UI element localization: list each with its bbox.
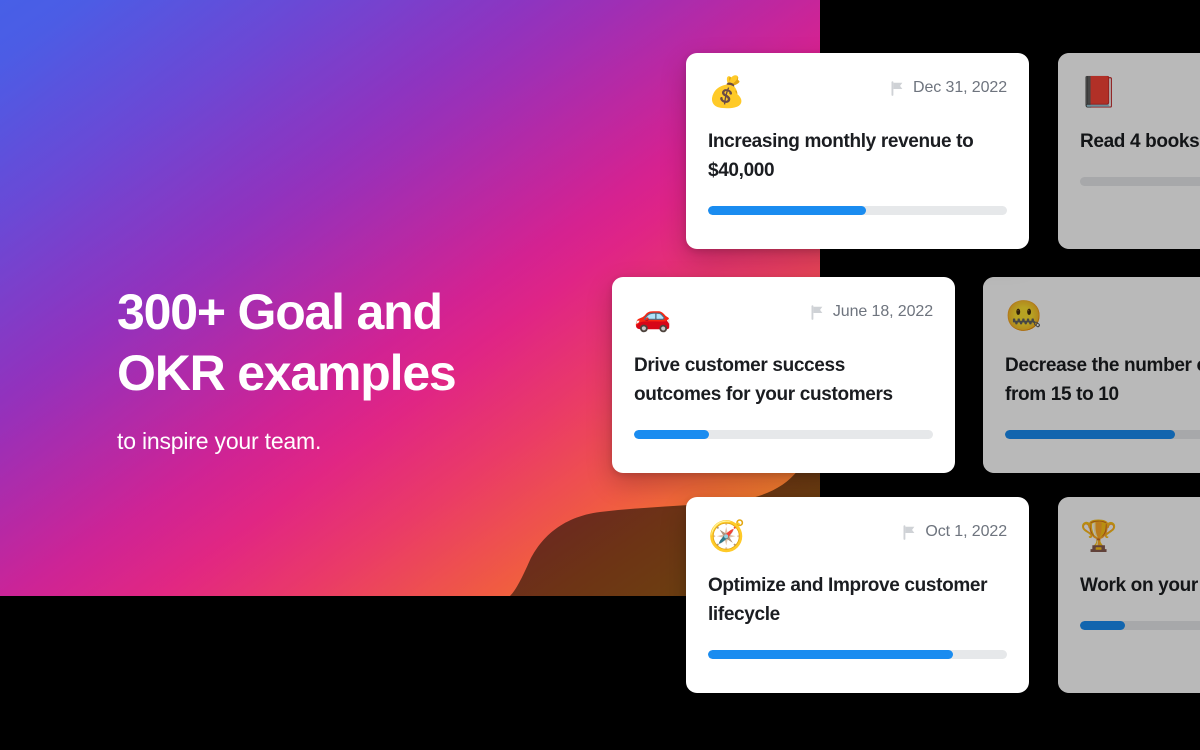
progress-bar bbox=[708, 650, 1007, 659]
money-bag-emoji: 💰 bbox=[708, 75, 745, 111]
progress-bar bbox=[708, 206, 1007, 215]
compass-emoji: 🧭 bbox=[708, 519, 745, 555]
card-title: Work on your skills by the end bbox=[1080, 571, 1200, 600]
card-title: Read 4 books bbox=[1080, 127, 1200, 156]
card-header: 📕 bbox=[1080, 75, 1200, 115]
goal-card-work-on-skills[interactable]: 🏆 Work on your skills by the end bbox=[1058, 497, 1200, 693]
zipper-mouth-face-emoji: 🤐 bbox=[1005, 299, 1042, 335]
progress-bar bbox=[634, 430, 933, 439]
card-title: Decrease the number of feedback from 15 … bbox=[1005, 351, 1200, 409]
card-title: Drive customer success outcomes for your… bbox=[634, 351, 933, 409]
page-title: 300+ Goal and OKR examples bbox=[117, 282, 587, 404]
card-header: 🏆 bbox=[1080, 519, 1200, 559]
progress-fill bbox=[708, 206, 866, 215]
card-header: 🚗 June 18, 2022 bbox=[634, 299, 933, 339]
card-due-date: June 18, 2022 bbox=[810, 303, 933, 321]
progress-bar bbox=[1080, 177, 1200, 186]
card-title: Optimize and Improve customer lifecycle bbox=[708, 571, 1007, 629]
goal-card-optimize-lifecycle[interactable]: 🧭 Oct 1, 2022 Optimize and Improve custo… bbox=[686, 497, 1029, 693]
flag-icon bbox=[810, 305, 825, 320]
progress-bar bbox=[1080, 621, 1200, 630]
progress-fill bbox=[634, 430, 709, 439]
goal-card-read-books[interactable]: 📕 Read 4 books bbox=[1058, 53, 1200, 249]
card-date-text: June 18, 2022 bbox=[833, 303, 933, 321]
progress-fill bbox=[1080, 621, 1125, 630]
progress-bar bbox=[1005, 430, 1200, 439]
card-due-date: Dec 31, 2022 bbox=[890, 79, 1007, 97]
card-header: 🤐 bbox=[1005, 299, 1200, 339]
card-date-text: Oct 1, 2022 bbox=[925, 523, 1007, 541]
flag-icon bbox=[902, 525, 917, 540]
goal-card-revenue[interactable]: 💰 Dec 31, 2022 Increasing monthly revenu… bbox=[686, 53, 1029, 249]
card-header: 💰 Dec 31, 2022 bbox=[708, 75, 1007, 115]
trophy-emoji: 🏆 bbox=[1080, 519, 1117, 555]
red-car-emoji: 🚗 bbox=[634, 299, 671, 335]
progress-fill bbox=[708, 650, 953, 659]
card-due-date: Oct 1, 2022 bbox=[902, 523, 1007, 541]
page-subtitle: to inspire your team. bbox=[117, 426, 587, 456]
card-date-text: Dec 31, 2022 bbox=[913, 79, 1007, 97]
flag-icon bbox=[890, 81, 905, 96]
card-header: 🧭 Oct 1, 2022 bbox=[708, 519, 1007, 559]
progress-fill bbox=[1005, 430, 1175, 439]
goal-card-decrease-feedback[interactable]: 🤐 Decrease the number of feedback from 1… bbox=[983, 277, 1200, 473]
promo-banner: 300+ Goal and OKR examples to inspire yo… bbox=[0, 0, 1200, 750]
closed-book-emoji: 📕 bbox=[1080, 75, 1117, 111]
hero-copy: 300+ Goal and OKR examples to inspire yo… bbox=[117, 282, 587, 456]
goal-card-drive-customer-success[interactable]: 🚗 June 18, 2022 Drive customer success o… bbox=[612, 277, 955, 473]
card-title: Increasing monthly revenue to $40,000 bbox=[708, 127, 1007, 185]
